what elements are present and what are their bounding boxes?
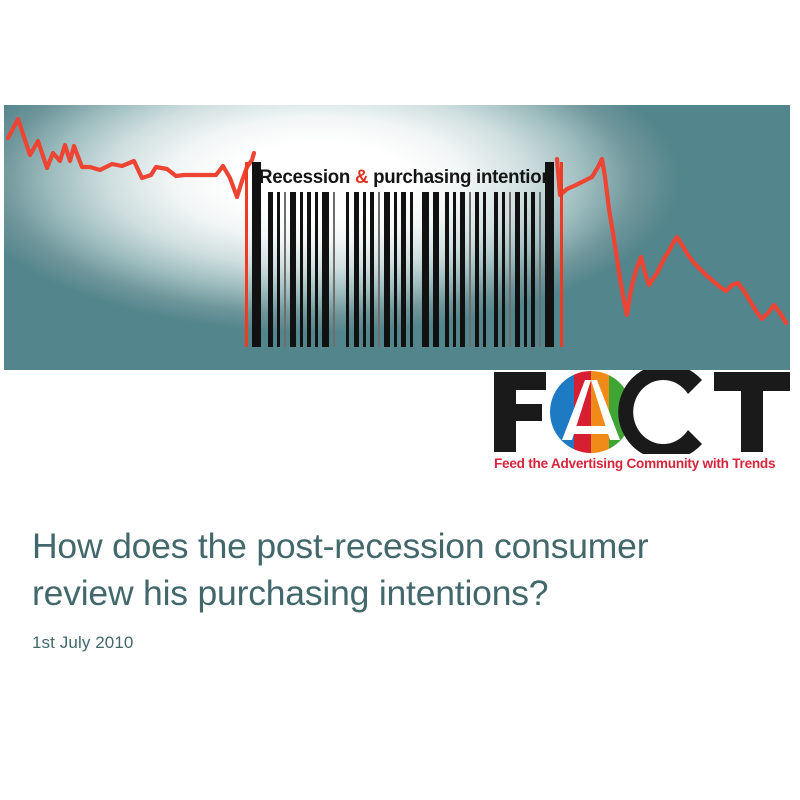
trend-line-right <box>557 159 786 323</box>
page-title: How does the post-recession consumer rev… <box>32 523 752 617</box>
barcode-red-edge-right <box>560 162 563 347</box>
trend-line-left <box>8 119 254 197</box>
headline-block: How does the post-recession consumer rev… <box>32 523 752 653</box>
logo-tagline: Feed the Advertising Community with Tren… <box>494 456 792 471</box>
fact-logo: Feed the Advertising Community with Tren… <box>492 370 792 480</box>
logo-letter-t <box>714 372 790 452</box>
presentation-date: 1st July 2010 <box>32 633 752 653</box>
logo-letter-c <box>618 370 702 454</box>
barcode-bars <box>250 162 558 347</box>
barcode-red-edge-left <box>245 162 248 347</box>
recession-banner: Recession & purchasing intention <box>4 105 790 370</box>
logo-letter-f <box>494 372 546 452</box>
barcode-graphic: Recession & purchasing intention <box>245 162 563 347</box>
fact-wordmark <box>492 370 792 454</box>
